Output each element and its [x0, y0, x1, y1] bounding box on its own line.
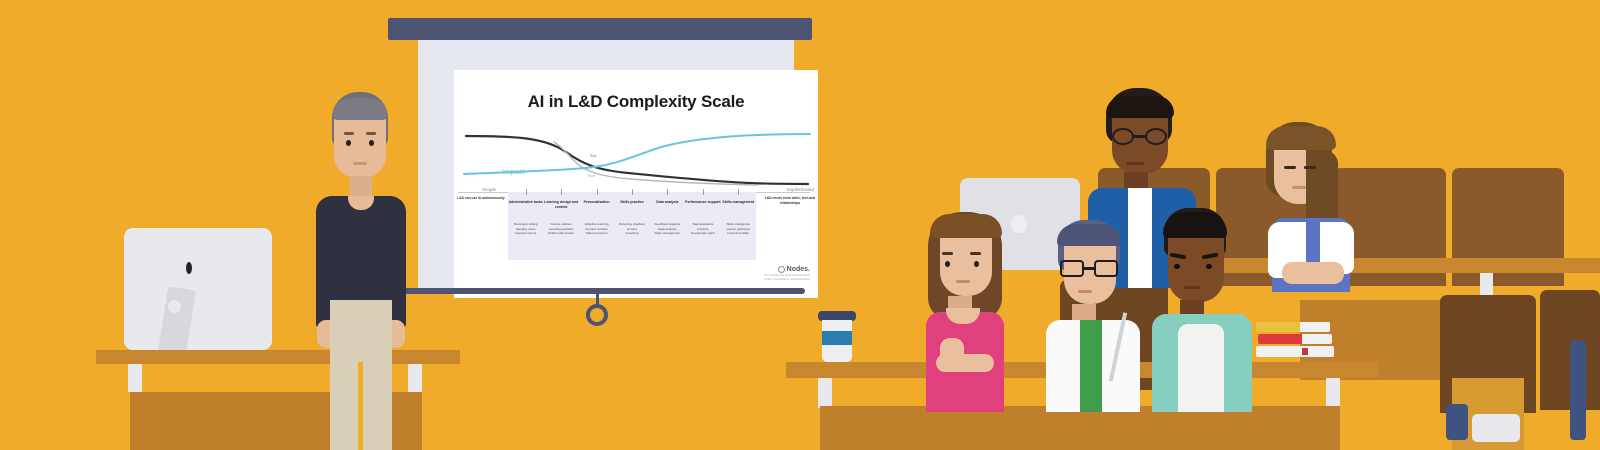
axis-caption-left: L&D can use AI autonomously: [456, 196, 506, 201]
student-eye-left: [1284, 166, 1296, 169]
student-hair-front: [1266, 126, 1336, 150]
category-list: Administrative tasks Document writingMee…: [508, 192, 756, 260]
student-eye-left: [1174, 264, 1180, 269]
presenter-eye-left: [346, 140, 351, 146]
logo-wordmark: Nodes.: [787, 266, 810, 273]
glasses-lens-right: [1094, 260, 1118, 277]
student-forearm: [936, 354, 994, 372]
student-labcoat-left: [1046, 320, 1080, 412]
presenter-eyebrow-left: [344, 132, 354, 135]
glasses-lens-left: [1112, 128, 1134, 145]
category-column: Learning design and content Course outli…: [543, 192, 578, 260]
student-mouth: [1078, 290, 1092, 293]
category-tick: [667, 189, 668, 195]
impact-curve-label: Impact: [502, 167, 525, 176]
monitor-stand-hinge: [168, 300, 181, 313]
shoe-left: [1446, 404, 1468, 440]
presenter-trouser-split: [358, 362, 363, 450]
axis-caption-right: L&D needs extra skills, tech and relatio…: [764, 196, 816, 206]
risk-curve-inline-label: Risk: [590, 154, 597, 158]
student-mouth: [956, 280, 970, 283]
student-mouth: [1292, 186, 1306, 189]
screen-pull-ring[interactable]: [586, 304, 608, 326]
front-desk-leg: [818, 378, 832, 408]
student-eye-right: [1304, 166, 1316, 169]
slide-logo: Nodes. The people side of AI transformat…: [764, 266, 810, 282]
curve-risk: [466, 136, 808, 184]
category-tick: [561, 189, 562, 195]
category-column: Skills practice Role-play chatbotsAI tut…: [614, 192, 649, 260]
student-hair-front: [1106, 96, 1174, 118]
glasses-lens-left: [1060, 260, 1084, 277]
book-white-marker: [1302, 348, 1308, 355]
coffee-cup-sleeve: [822, 331, 852, 345]
screen-canvas: AI in L&D Complexity Scale Impact Risk T…: [418, 40, 794, 288]
presenter-eyebrow-right: [366, 132, 376, 135]
student-front-right: [1148, 208, 1258, 412]
chair-base: [1472, 414, 1520, 442]
category-tick: [703, 189, 704, 195]
student-hair-front: [930, 214, 1002, 238]
category-column: Administrative tasks Document writingMee…: [508, 192, 543, 260]
logo-tagline-2: Agile | Foundations | Fieldworkshop: [764, 277, 810, 282]
student-eye-right: [974, 261, 979, 267]
category-name: Data analysis: [650, 200, 685, 205]
front-desk-front: [820, 406, 1340, 450]
student-hair-front: [1163, 212, 1227, 238]
student-eye-right: [1206, 264, 1212, 269]
category-items: Adaptive learningContent curationTailore…: [579, 222, 614, 236]
presenter-mouth: [353, 162, 367, 165]
category-name: Performance support: [685, 200, 720, 205]
presenter: [300, 92, 420, 450]
category-column: Personalization Adaptive learningContent…: [579, 192, 614, 260]
book-yellow-pages: [1300, 322, 1330, 332]
presenter-desk-leg: [128, 364, 142, 392]
student-sweater-panel: [1178, 324, 1224, 412]
student-arms: [1282, 262, 1344, 284]
monitor-screen: [124, 228, 272, 350]
screen-bottom-bar: [395, 288, 805, 294]
student-mouth: [1126, 162, 1144, 165]
student-eyebrow-right: [970, 252, 981, 255]
category-name: Skills management: [721, 200, 756, 205]
category-tick: [597, 189, 598, 195]
front-desk-leg: [1326, 378, 1340, 408]
projector-screen: AI in L&D Complexity Scale Impact Risk T…: [388, 18, 812, 303]
screen-top-bar: [388, 18, 812, 40]
lecture-hall-scene: AI in L&D Complexity Scale Impact Risk T…: [0, 0, 1600, 450]
student-front-mid: [1042, 220, 1144, 412]
category-name: Learning design and content: [543, 200, 578, 210]
glasses-lens-right: [1145, 128, 1167, 145]
monitor-camera-dot: [186, 262, 192, 274]
category-tick: [526, 189, 527, 195]
presenter-eye-right: [369, 140, 374, 146]
category-items: Course outlinesLearning activitiesMultim…: [543, 222, 578, 236]
category-items: Feedback analysisData analysisData manag…: [650, 222, 685, 236]
category-items: Skills intelligenceCareer pathwaysIntern…: [721, 222, 756, 236]
slide: AI in L&D Complexity Scale Impact Risk T…: [454, 70, 818, 298]
category-items: Document writingMeeting notesInternal co…: [508, 222, 543, 236]
slide-title: AI in L&D Complexity Scale: [454, 92, 818, 112]
glasses-bridge: [1134, 135, 1145, 138]
category-name: Skills practice: [614, 200, 649, 205]
category-items: Task assistantsCopilotsKnowledge mgmt: [685, 222, 720, 236]
category-column: Performance support Task assistantsCopil…: [685, 192, 720, 260]
category-tick: [738, 189, 739, 195]
pole: [1570, 340, 1586, 440]
category-name: Administrative tasks: [508, 200, 543, 205]
student-eye-left: [945, 261, 950, 267]
category-items: Role-play chatbotsAI tutorCoaching: [614, 222, 649, 236]
student-hair-front: [1057, 224, 1121, 246]
category-column: Data analysis Feedback analysisData anal…: [650, 192, 685, 260]
category-tick: [632, 189, 633, 195]
category-column: Skills management Skills intelligenceCar…: [721, 192, 756, 260]
category-name: Personalization: [579, 200, 614, 205]
student-front-left: [918, 212, 1026, 412]
student-mouth: [1184, 286, 1200, 289]
book-red-pages: [1302, 334, 1332, 344]
student-eyebrow-left: [942, 252, 953, 255]
presenter-hair-front: [333, 98, 387, 120]
glasses-bridge: [1084, 267, 1094, 270]
nodes-logo-icon: [778, 266, 785, 273]
student-back-right: [1248, 122, 1368, 292]
trust-curve-inline-label: Trust: [587, 174, 595, 178]
book-white: [1256, 346, 1334, 357]
complexity-curves-chart: [458, 128, 814, 190]
